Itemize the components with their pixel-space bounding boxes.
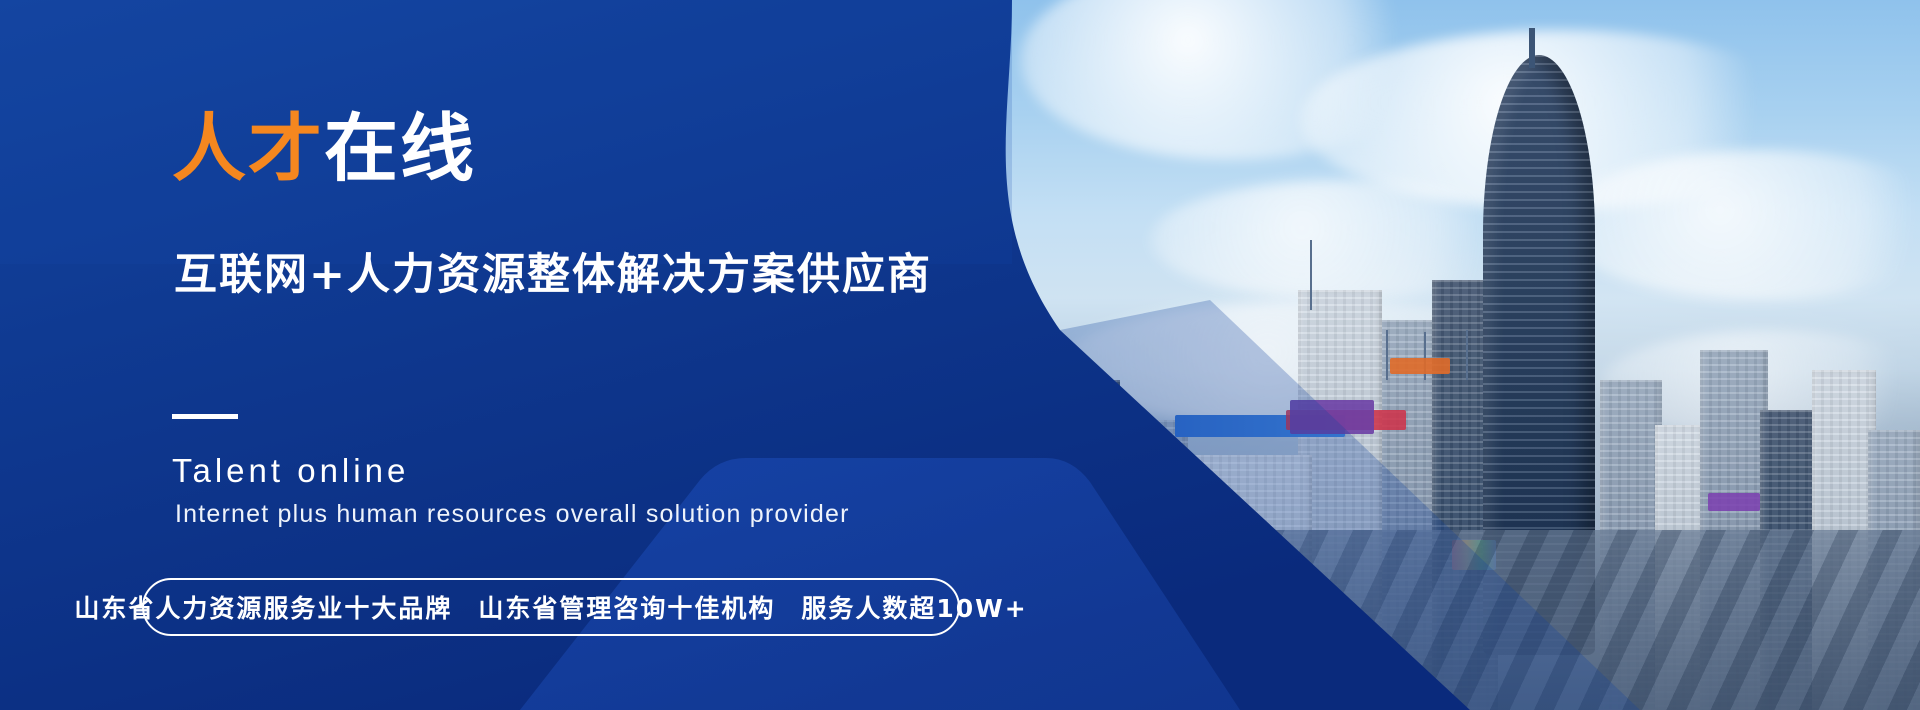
badge-item: 山东省管理咨询十佳机构 bbox=[478, 589, 775, 625]
credentials-pill: 山东省人力资源服务业十大品牌 山东省管理咨询十佳机构 服务人数超10W+ bbox=[142, 578, 960, 636]
badge-item: 山东省人力资源服务业十大品牌 bbox=[74, 589, 452, 625]
title-accent-text: 人才 bbox=[172, 106, 324, 192]
hero-content: 人才在线 互联网+人力资源整体解决方案供应商 Talent online Int… bbox=[0, 0, 1100, 710]
subtitle-english: Internet plus human resources overall so… bbox=[175, 500, 850, 529]
subtitle-chinese: 互联网+人力资源整体解决方案供应商 bbox=[174, 240, 932, 302]
divider-rule bbox=[172, 414, 238, 419]
hero-banner: 人才在线 互联网+人力资源整体解决方案供应商 Talent online Int… bbox=[0, 0, 1920, 710]
page-title: 人才在线 bbox=[172, 112, 476, 186]
title-plain-text: 在线 bbox=[324, 106, 476, 192]
title-english: Talent online bbox=[172, 452, 409, 490]
badge-item: 服务人数超10W+ bbox=[801, 589, 1027, 625]
